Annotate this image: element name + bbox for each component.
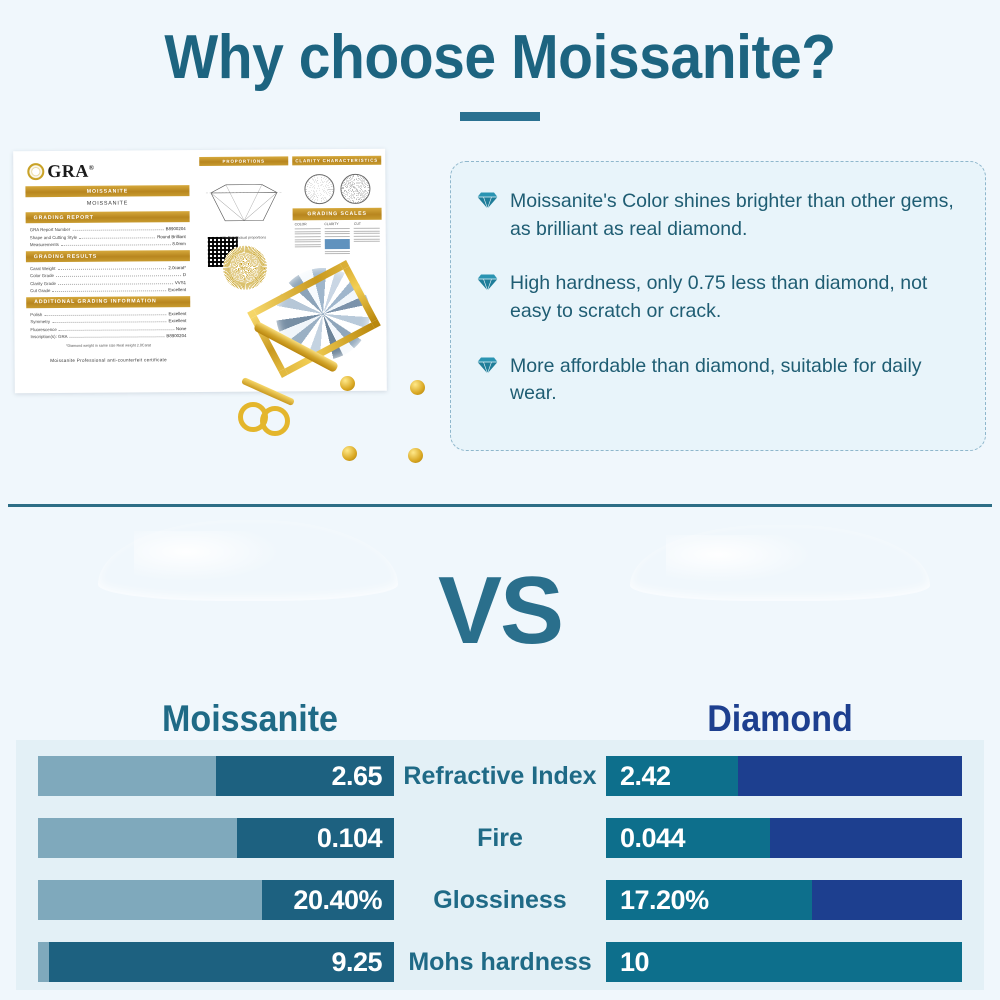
bar-left-value: 9.25 bbox=[49, 942, 394, 982]
clarity-circles bbox=[292, 170, 381, 205]
list-item: More affordable than diamond, suitable f… bbox=[477, 353, 959, 408]
prong-icon bbox=[410, 380, 425, 395]
diamond-profile-icon bbox=[199, 171, 288, 230]
table-row: 2.65Refractive Index2.42 bbox=[16, 756, 984, 796]
bar-right-3: 10 bbox=[606, 942, 962, 982]
list-item: High hardness, only 0.75 less than diamo… bbox=[477, 270, 959, 325]
diagram-area: Profile to actual proportions GRADING SC… bbox=[199, 170, 381, 233]
clarity-plot-crown-icon bbox=[304, 174, 334, 204]
certificate-left-column: GRA® MOISSANITE MOISSANITE GRADING REPOR… bbox=[19, 154, 197, 393]
diamond-icon bbox=[477, 357, 498, 379]
bar-left-value: 20.40% bbox=[262, 880, 394, 920]
bar-right-value: 0.044 bbox=[606, 818, 770, 858]
bar-right-value: 10 bbox=[606, 942, 962, 982]
infographic-page: Why choose Moissanite? GRA® MOISSANITE M… bbox=[0, 0, 1000, 1000]
grading-scales: COLOR CLARITY CUT bbox=[293, 221, 382, 254]
feature-text: More affordable than diamond, suitable f… bbox=[510, 353, 959, 408]
section-grading-results: GRADING RESULTS bbox=[26, 250, 190, 262]
gra-brand-text: GRA® bbox=[47, 161, 94, 182]
table-row: Cut GradeExcellent bbox=[30, 286, 186, 294]
section-clarity: CLARITY CHARACTERISTICS bbox=[292, 156, 381, 166]
gra-logo: GRA® bbox=[27, 160, 195, 182]
diamond-icon bbox=[477, 192, 498, 214]
diamond-icon bbox=[477, 274, 498, 296]
prong-icon bbox=[408, 448, 423, 463]
clarity-plot-pavilion-icon bbox=[340, 174, 370, 204]
title-underline bbox=[460, 112, 540, 121]
profile-caption: Profile to actual proportions bbox=[200, 236, 289, 241]
right-product-name: Diamond bbox=[651, 698, 909, 740]
table-row: Inscription(s): GRAB8900204 bbox=[30, 332, 186, 340]
vs-label: VS bbox=[0, 556, 1000, 666]
metric-label: Refractive Index bbox=[394, 756, 606, 796]
butterfly-loop-right bbox=[260, 406, 290, 436]
prong-icon bbox=[342, 446, 357, 461]
scale-highlight bbox=[324, 239, 350, 249]
section-additional-info: ADDITIONAL GRADING INFORMATION bbox=[26, 296, 190, 308]
bar-left-value: 2.65 bbox=[216, 756, 394, 796]
earring-butterfly-back bbox=[234, 378, 304, 442]
bar-left-2: 20.40% bbox=[38, 880, 394, 920]
table-row: 9.25Mohs hardness10 bbox=[16, 942, 984, 982]
bar-left-value: 0.104 bbox=[237, 818, 394, 858]
proportions-diagram: Profile to actual proportions bbox=[199, 171, 288, 234]
section-grading-scales: GRADING SCALES bbox=[293, 208, 382, 220]
feature-text: Moissanite's Color shines brighter than … bbox=[510, 188, 959, 243]
certificate-note: *Diamond weight in same size Real weight… bbox=[35, 343, 183, 348]
prong-icon bbox=[340, 376, 355, 391]
features-panel: Moissanite's Color shines brighter than … bbox=[450, 161, 986, 451]
proportions-headers: PROPORTIONS CLARITY CHARACTERISTICS bbox=[199, 153, 381, 170]
section-divider bbox=[8, 504, 992, 507]
bar-right-0: 2.42 bbox=[606, 756, 962, 796]
table-row: Measurements8.0mm bbox=[30, 240, 186, 248]
metric-label: Fire bbox=[394, 818, 606, 858]
list-item: Moissanite's Color shines brighter than … bbox=[477, 188, 959, 243]
certificate-subtitle: MOISSANITE bbox=[20, 200, 196, 207]
table-row: 20.40%Glossiness17.20% bbox=[16, 880, 984, 920]
moissanite-earrings-photo bbox=[232, 268, 432, 468]
certificate-image: GRA® MOISSANITE MOISSANITE GRADING REPOR… bbox=[14, 150, 434, 475]
comparison-table: 2.65Refractive Index2.42 0.104Fire0.044 … bbox=[16, 740, 984, 990]
bar-right-2: 17.20% bbox=[606, 880, 962, 920]
feature-text: High hardness, only 0.75 less than diamo… bbox=[510, 270, 959, 325]
metric-label: Glossiness bbox=[394, 880, 606, 920]
bar-left-0: 2.65 bbox=[38, 756, 394, 796]
section-grading-report: GRADING REPORT bbox=[26, 211, 190, 223]
section-proportions: PROPORTIONS bbox=[199, 156, 288, 166]
bar-right-1: 0.044 bbox=[606, 818, 962, 858]
certificate-banner: MOISSANITE bbox=[25, 185, 189, 197]
bar-right-value: 17.20% bbox=[606, 880, 812, 920]
table-row: 0.104Fire0.044 bbox=[16, 818, 984, 858]
gra-seal-icon bbox=[27, 163, 44, 180]
scale-column-cut: CUT bbox=[354, 221, 380, 254]
scale-column-color: COLOR bbox=[295, 222, 321, 255]
bar-right-value: 2.42 bbox=[606, 756, 738, 796]
bar-left-1: 0.104 bbox=[38, 818, 394, 858]
scale-column-clarity: CLARITY bbox=[324, 222, 350, 255]
left-product-name: Moissanite bbox=[121, 698, 379, 740]
metric-label: Mohs hardness bbox=[394, 942, 606, 982]
certificate-footer: Moissanite Professional anti-counterfeit… bbox=[21, 357, 197, 363]
page-title: Why choose Moissanite? bbox=[40, 22, 960, 93]
bar-left-3: 9.25 bbox=[38, 942, 394, 982]
clarity-diagram: GRADING SCALES COLOR CLARITY bbox=[292, 170, 381, 233]
